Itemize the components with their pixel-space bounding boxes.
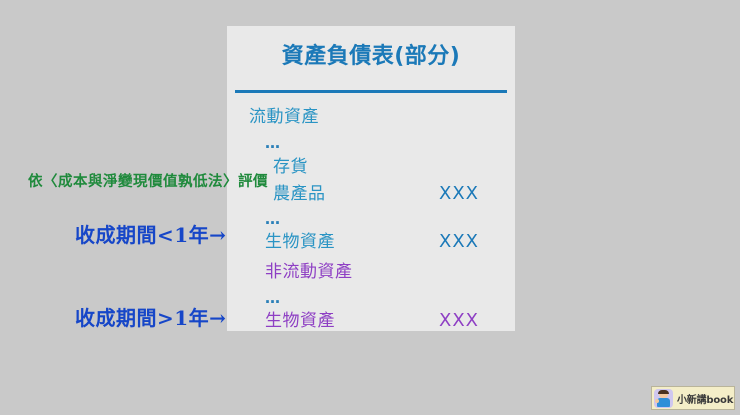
row-amount-agricultural-produce: XXX xyxy=(439,181,479,207)
row-label-non-current-assets: 非流動資產 xyxy=(265,259,353,285)
balance-sheet-panel: 資產負債表(部分) 流動資產 … 存貨 農產品 XXX … 生物資產 XXX xyxy=(227,26,515,331)
annotation-harvest-over-one-year: 收成期間>1年→ xyxy=(75,302,226,331)
row-label-biological-assets-current: 生物資產 xyxy=(265,229,335,255)
table-row: 非流動資產 xyxy=(227,259,515,285)
row-label-current-assets: 流動資產 xyxy=(249,104,319,130)
watermark-label: 小新講book xyxy=(677,391,733,406)
row-amount-biological-assets-noncurrent: XXX xyxy=(439,308,479,334)
title-underline-rule xyxy=(235,90,507,93)
panel-title: 資產負債表(部分) xyxy=(227,38,515,70)
table-row: 生物資產 XXX xyxy=(227,308,515,334)
boy-avatar-icon xyxy=(654,389,673,408)
row-ellipsis: … xyxy=(265,130,282,156)
row-amount-biological-assets-current: XXX xyxy=(439,229,479,255)
table-row: 存貨 xyxy=(227,154,515,180)
slide-canvas: 資產負債表(部分) 流動資產 … 存貨 農產品 XXX … 生物資產 XXX xyxy=(0,0,740,415)
row-label-inventory: 存貨 xyxy=(273,154,308,180)
row-label-biological-assets-noncurrent: 生物資產 xyxy=(265,308,335,334)
watermark-badge: 小新講book xyxy=(651,386,735,410)
table-row: … xyxy=(227,130,515,156)
annotation-harvest-under-one-year: 收成期間<1年→ xyxy=(75,219,226,248)
annotation-valuation-method: 依〈成本與淨變現價值孰低法〉評價 xyxy=(28,170,268,191)
row-label-agricultural-produce: 農產品 xyxy=(273,181,326,207)
table-row: 農產品 XXX xyxy=(227,181,515,207)
table-row: 生物資產 XXX xyxy=(227,229,515,255)
table-row: 流動資產 xyxy=(227,104,515,130)
